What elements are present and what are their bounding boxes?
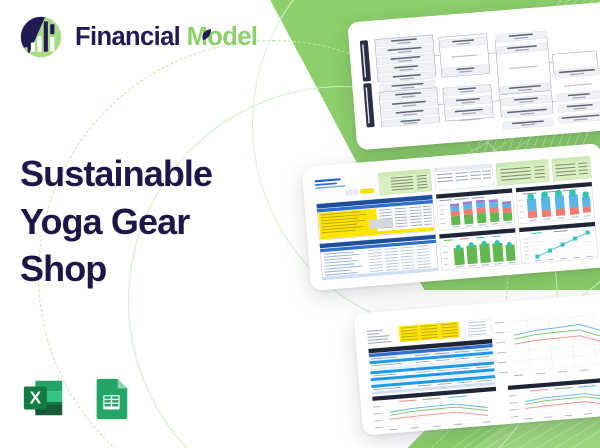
dashboard-content bbox=[302, 143, 600, 291]
page-title: Sustainable Yoga Gear Shop bbox=[20, 150, 260, 293]
poster-canvas: Financial Model Sustainable Yoga Gear Sh… bbox=[0, 0, 600, 448]
svg-text:X: X bbox=[30, 388, 42, 408]
brand-name-part1: Financial bbox=[75, 23, 180, 51]
brand-name-part2: Model bbox=[187, 23, 258, 52]
dupont-diagram bbox=[347, 2, 600, 151]
format-icons: X bbox=[20, 375, 134, 421]
circular-bar-chart-logo-icon bbox=[18, 14, 64, 60]
excel-icon[interactable]: X bbox=[20, 375, 66, 421]
card-dupont-flowchart[interactable] bbox=[347, 2, 600, 151]
google-sheets-icon[interactable] bbox=[88, 375, 134, 421]
dupont-sheet bbox=[347, 2, 600, 151]
card-kpi-dashboard[interactable] bbox=[302, 143, 600, 291]
statements-sheet bbox=[354, 292, 600, 435]
brand-name: Financial Model bbox=[75, 23, 257, 52]
card-financial-statements[interactable] bbox=[354, 292, 600, 435]
brand-lockup: Financial Model bbox=[18, 14, 257, 60]
statements-content bbox=[354, 292, 600, 435]
leaf-icon bbox=[201, 29, 212, 42]
dashboard-sheet bbox=[302, 143, 600, 291]
